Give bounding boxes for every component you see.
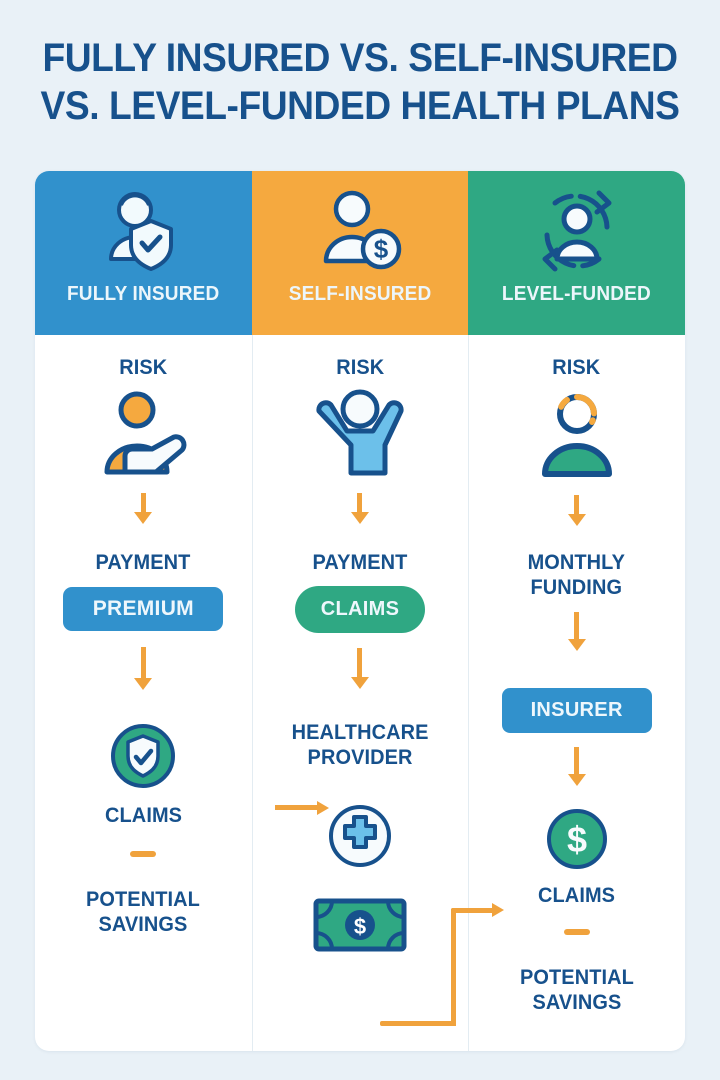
arrow-risk-to-payment-2 — [353, 493, 367, 524]
premium-box[interactable]: PREMIUM — [63, 587, 223, 631]
monthly-funding-label: MONTHLY FUNDING — [528, 550, 625, 600]
arrow-insurer-to-claims — [570, 747, 584, 786]
premium-to-claims-arrow — [275, 801, 333, 815]
title-line-2: VS. LEVEL-FUNDED HEALTH PLANS — [25, 82, 695, 130]
infographic-page: FULLY INSURED VS. SELF-INSURED VS. LEVEL… — [0, 0, 720, 1080]
savings-line-1: POTENTIAL — [86, 888, 200, 911]
healthcare-provider-label: HEALTHCARE PROVIDER — [292, 720, 429, 770]
person-arms-raised-icon — [305, 383, 415, 479]
payment-label-1: PAYMENT — [96, 550, 191, 575]
claims-label-3: CLAIMS — [538, 883, 615, 908]
comparison-card: FULLY INSURED RISK — [35, 171, 685, 1051]
person-refresh-arrows-icon — [529, 171, 625, 283]
page-title: FULLY INSURED VS. SELF-INSURED VS. LEVEL… — [25, 34, 695, 130]
insurer-box[interactable]: INSURER — [502, 688, 652, 733]
svg-text:$: $ — [374, 234, 389, 264]
person-shield-check-icon — [95, 171, 191, 283]
risk-label-2: RISK — [336, 355, 384, 380]
minus-dash-icon-3 — [564, 929, 590, 935]
person-dollar-icon: $ — [312, 171, 408, 283]
savings-line-2: SAVINGS — [99, 913, 188, 936]
svg-text:$: $ — [354, 914, 366, 939]
arrow-risk-to-funding — [570, 495, 584, 526]
person-holding-hand-icon — [91, 388, 195, 478]
funding-line-2: FUNDING — [531, 576, 623, 599]
arrow-risk-to-payment-1 — [136, 493, 150, 524]
header-fully-insured: FULLY INSURED — [35, 171, 252, 335]
header-label-fully-insured: FULLY INSURED — [67, 283, 219, 306]
provider-line-2: PROVIDER — [307, 746, 412, 769]
columns-container: FULLY INSURED RISK — [35, 171, 685, 1051]
risk-label-1: RISK — [119, 355, 167, 380]
header-level-funded: LEVEL-FUNDED — [468, 171, 685, 335]
potential-savings-label-1: POTENTIAL SAVINGS — [86, 887, 200, 937]
arrow-claims-to-provider — [353, 648, 367, 689]
body-fully-insured: RISK — [35, 335, 252, 1051]
provider-to-insurer-arrow — [380, 896, 540, 1036]
medical-cross-circle-icon — [327, 803, 393, 869]
savings-line-3b: SAVINGS — [532, 991, 621, 1014]
minus-dash-icon-1 — [130, 851, 156, 857]
arrow-premium-to-claims-1 — [136, 647, 150, 690]
header-label-level-funded: LEVEL-FUNDED — [502, 283, 651, 306]
claims-pill-box[interactable]: CLAIMS — [295, 586, 425, 633]
dollar-coin-circle-icon: $ — [545, 807, 609, 871]
risk-label-3: RISK — [553, 355, 601, 380]
arrow-funding-to-insurer — [570, 612, 584, 651]
payment-label-2: PAYMENT — [313, 550, 408, 575]
title-line-1: FULLY INSURED VS. SELF-INSURED — [42, 36, 677, 80]
header-label-self-insured: SELF-INSURED — [289, 283, 432, 306]
provider-line-1: HEALTHCARE — [292, 721, 429, 744]
svg-text:$: $ — [567, 819, 587, 860]
shield-check-circle-icon — [109, 722, 177, 790]
column-fully-insured: FULLY INSURED RISK — [35, 171, 252, 1051]
funding-line-1: MONTHLY — [528, 551, 625, 574]
header-self-insured: $ SELF-INSURED — [252, 171, 469, 335]
claims-label-1: CLAIMS — [105, 803, 182, 828]
person-dashed-head-icon — [529, 388, 625, 480]
